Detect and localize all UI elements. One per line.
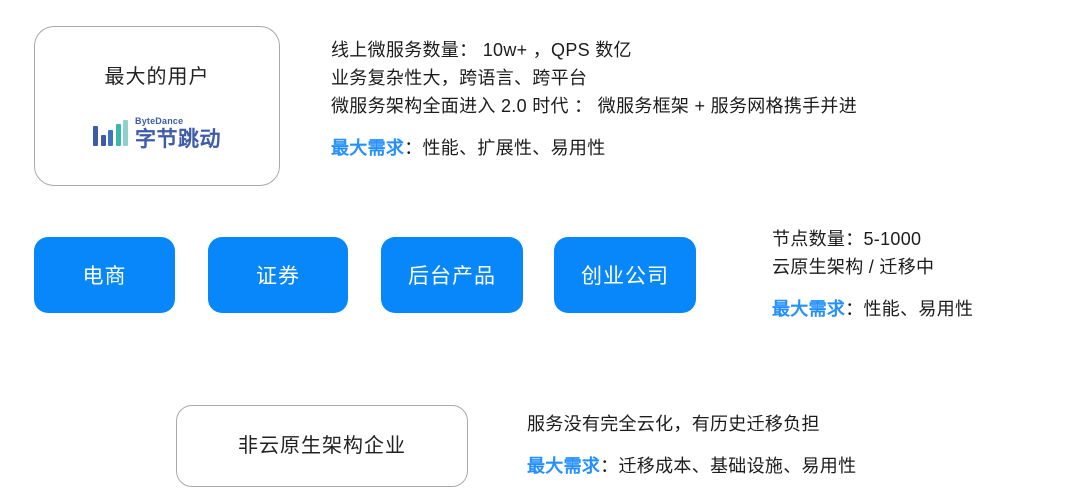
bytedance-wordmark-cn: 字节跳动 — [135, 129, 221, 150]
card-largest-user-title: 最大的用户 — [105, 63, 210, 91]
biggest-need-value: ：性能、扩展性、易用性 — [404, 138, 605, 158]
biggest-need-line: 最大需求：性能、扩展性、易用性 — [331, 134, 857, 162]
biggest-need-label: 最大需求 — [331, 138, 404, 158]
text-line: 云原生架构 / 迁移中 — [772, 253, 973, 281]
text-block-bytedance: 线上微服务数量： 10w+ ，QPS 数亿 业务复杂性大，跨语言、跨平台 微服务… — [331, 36, 857, 162]
text-line: 业务复杂性大，跨语言、跨平台 — [331, 64, 857, 92]
card-largest-user: 最大的用户 ByteDance 字节跳动 — [34, 26, 280, 186]
pill-button-startup[interactable]: 创业公司 — [554, 237, 696, 313]
pill-button-ecommerce[interactable]: 电商 — [34, 237, 175, 313]
text-line: 节点数量：5-1000 — [772, 225, 973, 253]
biggest-need-line: 最大需求：迁移成本、基础设施、易用性 — [527, 452, 856, 480]
text-line: 线上微服务数量： 10w+ ，QPS 数亿 — [331, 36, 857, 64]
text-line: 服务没有完全云化，有历史迁移负担 — [527, 410, 856, 438]
biggest-need-line: 最大需求：性能、易用性 — [772, 295, 973, 323]
bytedance-wordmark: ByteDance 字节跳动 — [135, 117, 221, 150]
card-non-cloud-native: 非云原生架构企业 — [176, 405, 468, 487]
pill-button-securities[interactable]: 证券 — [208, 237, 348, 313]
slide-canvas: 最大的用户 ByteDance 字节跳动 线上微服务数量： 10w+ ，QPS … — [0, 0, 1080, 504]
biggest-need-label: 最大需求 — [527, 456, 600, 476]
text-line: 微服务架构全面进入 2.0 时代 ： 微服务框架 + 服务网格携手并进 — [331, 92, 857, 120]
bytedance-wordmark-en: ByteDance — [135, 117, 221, 126]
pill-button-backend[interactable]: 后台产品 — [381, 237, 523, 313]
text-block-bottom: 服务没有完全云化，有历史迁移负担 最大需求：迁移成本、基础设施、易用性 — [527, 410, 856, 480]
biggest-need-value: ：性能、易用性 — [845, 299, 973, 319]
biggest-need-label: 最大需求 — [772, 299, 845, 319]
text-block-midrow: 节点数量：5-1000 云原生架构 / 迁移中 最大需求：性能、易用性 — [772, 225, 973, 323]
card-non-cloud-native-title: 非云原生架构企业 — [238, 432, 406, 460]
bytedance-logo: ByteDance 字节跳动 — [93, 117, 221, 150]
bytedance-bars-icon — [93, 120, 128, 146]
biggest-need-value: ：迁移成本、基础设施、易用性 — [600, 456, 856, 476]
